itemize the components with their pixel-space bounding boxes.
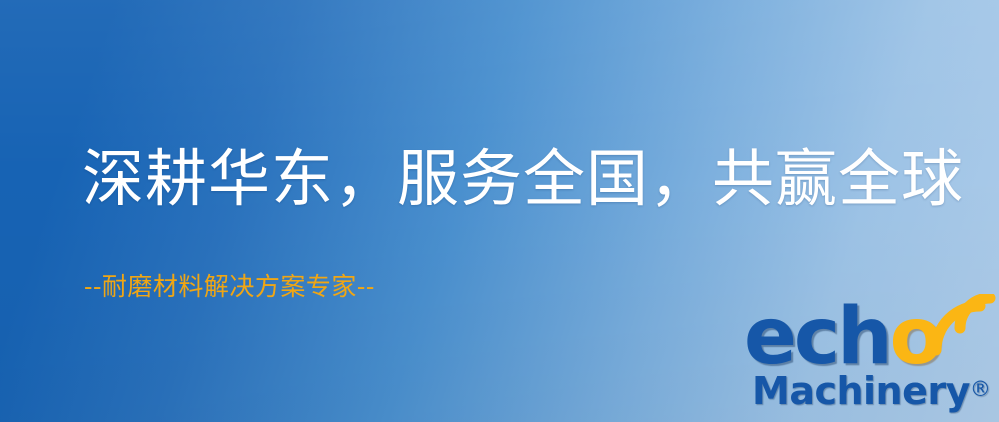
banner-subtitle: --耐磨材料解决方案专家-- [84, 267, 375, 303]
signal-waves-icon [922, 294, 996, 366]
logo-subword: Machinery® [752, 370, 991, 410]
banner-headline: 深耕华东，服务全国，共赢全球 [82, 146, 964, 211]
logo-wordmark: echo [744, 298, 940, 376]
registered-trademark-icon: ® [970, 377, 991, 401]
hero-banner: 深耕华东，服务全国，共赢全球 --耐磨材料解决方案专家-- echo Machi… [0, 0, 999, 422]
echo-machinery-logo: echo Machinery® [744, 298, 996, 418]
logo-text-machinery: Machinery [752, 369, 970, 413]
